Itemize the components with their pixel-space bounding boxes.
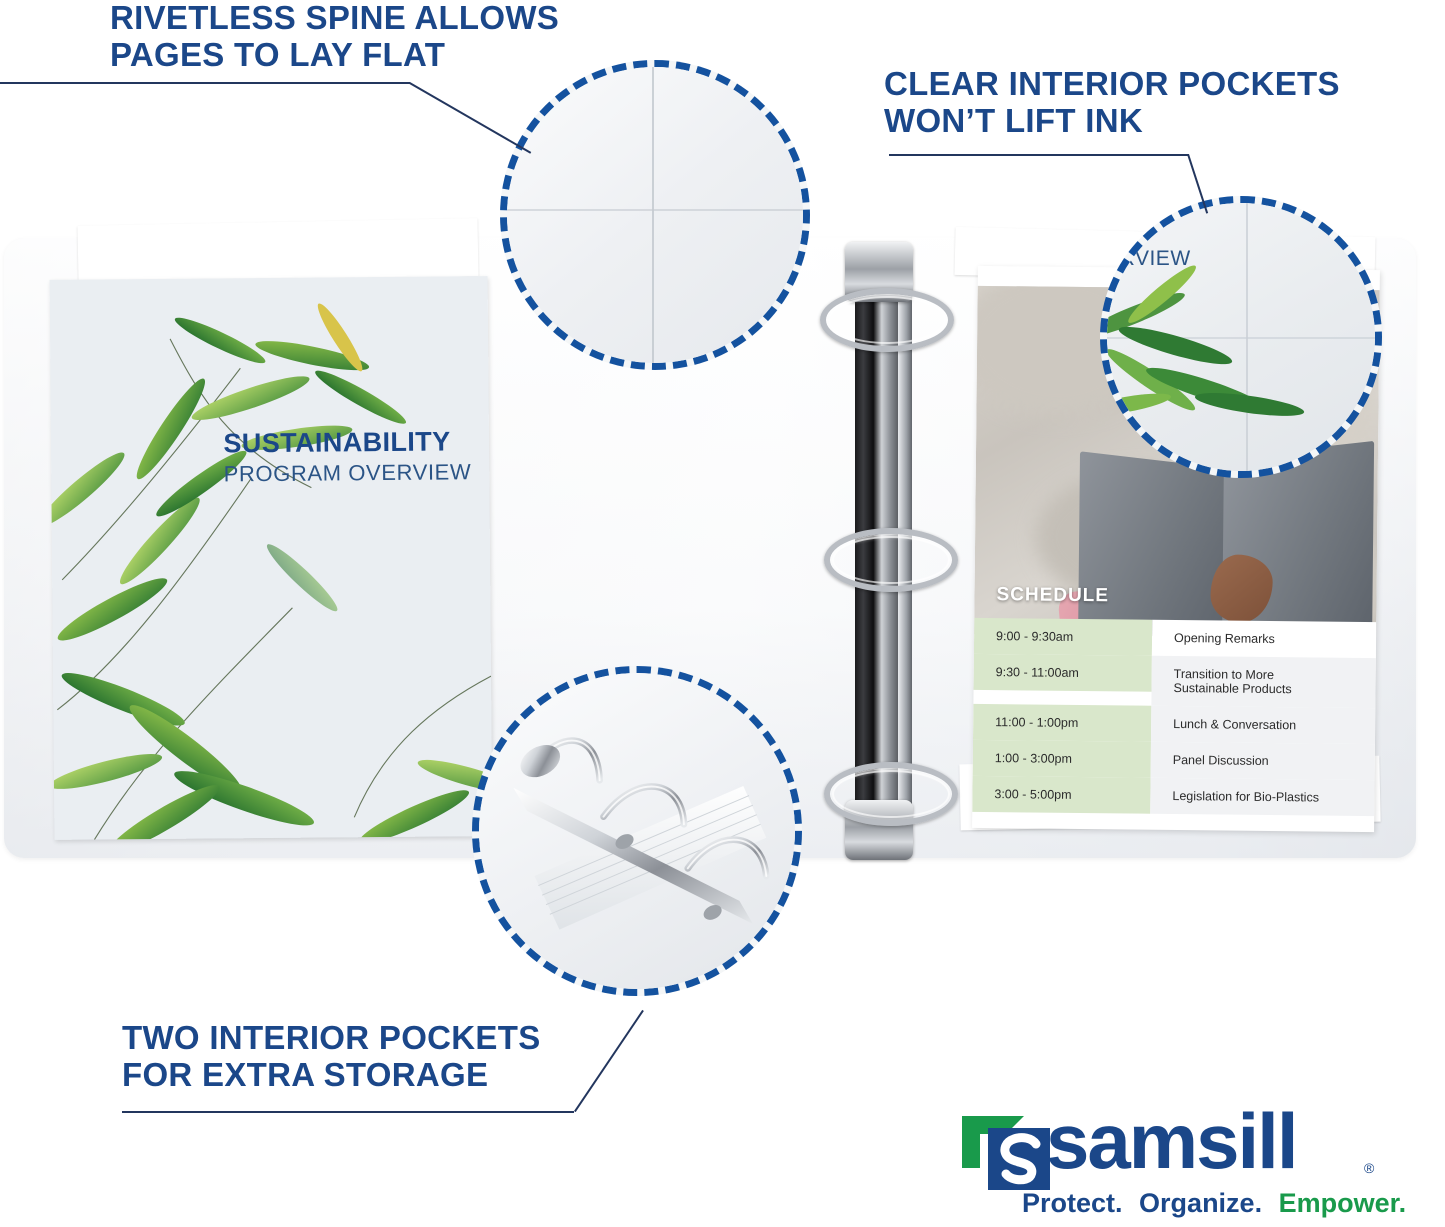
tagline-protect: Protect. [1022,1188,1123,1218]
schedule-desc: Opening Remarks [1152,620,1376,658]
schedule-heading: SCHEDULE [996,584,1109,607]
leader-line-1-horizontal [0,82,410,84]
table-row: 1:00 - 3:00pm Panel Discussion [973,740,1375,780]
binder-ring-2 [824,528,958,592]
registered-trademark-mark: ® [1364,1160,1374,1176]
logo-wordmark: samsill [1046,1102,1297,1180]
cover-title-block: SUSTAINABILITY PROGRAM OVERVIEW [223,426,471,487]
magnifier-2-content: ABILITY AM OVERVIEW [1107,203,1375,471]
schedule-desc: Legislation for Bio-Plastics [1150,778,1374,816]
schedule-desc: Lunch & Conversation [1151,706,1375,744]
table-row: 3:00 - 5:00pm Legislation for Bio-Plasti… [972,776,1374,816]
schedule-table: 9:00 - 9:30am Opening Remarks 9:30 - 11:… [972,618,1376,816]
callout-two-pockets-label: TWO INTERIOR POCKETS FOR EXTRA STORAGE [122,1020,642,1094]
callout-rivetless-spine-label: RIVETLESS SPINE ALLOWS PAGES TO LAY FLAT [110,0,630,74]
table-row: 9:00 - 9:30am Opening Remarks [974,618,1376,658]
bamboo-photo [50,276,493,840]
magnifier-rivetless-spine [500,60,810,370]
logo-tagline: Protect. Organize. Empower. [1022,1188,1406,1219]
schedule-desc: Transition to More Sustainable Products [1151,656,1376,708]
magnifier-interior-pockets [472,666,802,996]
table-row: 9:30 - 11:00am Transition to More Sustai… [973,654,1376,708]
table-row: 11:00 - 1:00pm Lunch & Conversation [973,704,1375,744]
schedule-time: 1:00 - 3:00pm [973,740,1151,778]
left-cover-page: SUSTAINABILITY PROGRAM OVERVIEW [50,276,493,840]
leader-line-3-horizontal [122,1111,574,1113]
schedule-time: 11:00 - 1:00pm [973,704,1151,742]
product-feature-image: SUSTAINABILITY PROGRAM OVERVIEW SCHEDULE… [0,0,1445,1227]
magnified-cover-subtitle: AM OVERVIEW [1100,247,1191,271]
binder-ring-3 [824,762,958,826]
schedule-time: 9:30 - 11:00am [974,654,1152,692]
magnifier-clear-pocket: ABILITY AM OVERVIEW [1100,196,1382,478]
tagline-empower: Empower. [1279,1188,1407,1218]
callout-clear-pockets-label: CLEAR INTERIOR POCKETS WON’T LIFT INK [884,66,1404,140]
schedule-desc: Panel Discussion [1151,742,1375,780]
magnifier-3-content [479,673,795,989]
loose-sheet-left [77,218,478,284]
tagline-organize: Organize. [1139,1188,1262,1218]
cover-title: SUSTAINABILITY [223,426,471,459]
cover-subtitle: PROGRAM OVERVIEW [224,459,472,487]
magnified-cover-title: ABILITY [1100,217,1153,248]
binder-ring-1 [820,288,954,352]
leader-line-2-horizontal [889,154,1189,156]
schedule-time: 9:00 - 9:30am [974,618,1152,656]
magnifier-1-content [507,67,803,363]
samsill-logo: samsill ® Protect. Organize. Empower. [958,1108,1398,1220]
schedule-time: 3:00 - 5:00pm [972,776,1150,814]
